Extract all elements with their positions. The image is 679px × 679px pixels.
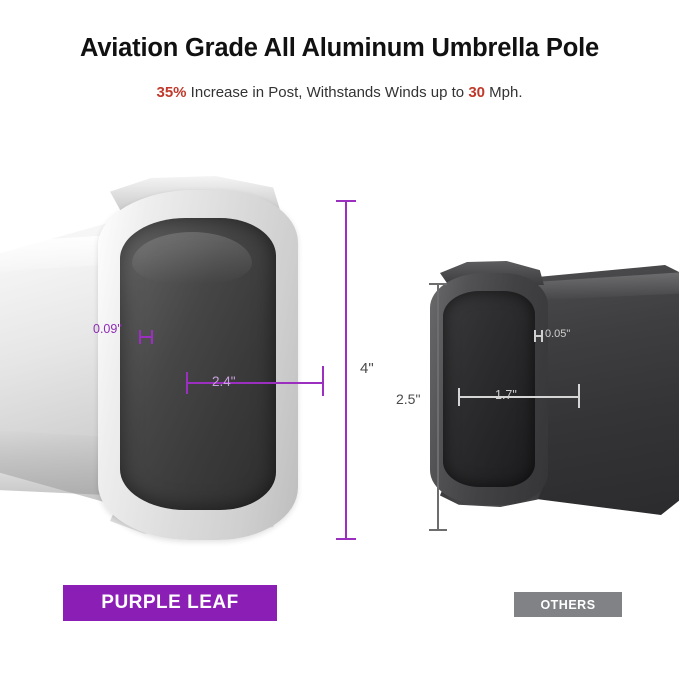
page-subtitle: 35% Increase in Post, Withstands Winds u… [0,84,679,101]
others-height-line [437,283,439,531]
brand-badge-purple-leaf: PURPLE LEAF [63,585,277,621]
page-title: Aviation Grade All Aluminum Umbrella Pol… [0,34,679,63]
purple-height-label: 4" [360,360,374,377]
others-thickness-tick-right [541,330,543,342]
purple-thickness-tick-right [151,330,153,344]
purple-wall-thickness-label: 0.09" [93,322,122,336]
others-width-tick-right [578,384,580,408]
purple-height-tick-top [336,200,356,202]
subtitle-text-end: Mph. [485,84,523,101]
others-width-tick-left [458,388,460,406]
purple-width-label: 2.4" [212,374,236,389]
others-cross-section-cavity [443,291,535,487]
others-height-label: 2.5" [396,391,420,407]
others-wall-thickness-label: 0.05" [545,328,570,340]
brand-badge-others: OTHERS [514,592,622,617]
purple-height-line [345,200,347,540]
others-width-label: 1.7" [495,388,517,402]
purple-leaf-pole-illustration [0,170,340,550]
others-height-tick-bottom [429,529,447,531]
others-width-line [458,396,580,398]
purple-width-tick-left [186,372,188,394]
subtitle-text-mid: Increase in Post, Withstands Winds up to [187,84,469,101]
purple-width-line [186,382,324,384]
subtitle-accent-wind: 30 [468,84,485,101]
subtitle-accent-percent: 35% [156,84,186,101]
brand-badge-others-label: OTHERS [540,598,595,612]
purple-height-tick-bottom [336,538,356,540]
product-comparison-infographic: Aviation Grade All Aluminum Umbrella Pol… [0,0,679,679]
others-pole-illustration [410,255,679,545]
brand-badge-purple-leaf-label: PURPLE LEAF [101,592,238,614]
others-height-tick-top [429,283,447,285]
purple-width-tick-right [322,366,324,396]
